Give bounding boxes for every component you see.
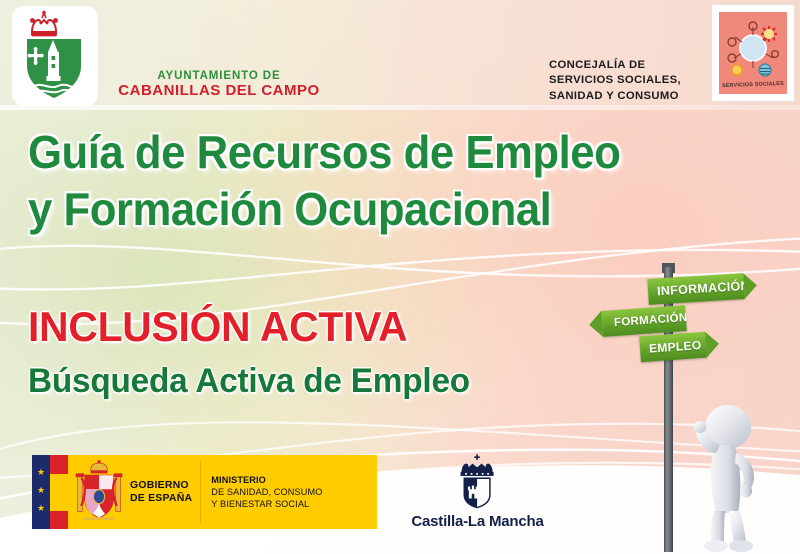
ministry-text: MINISTERIO DE SANIDAD, CONSUMO Y BIENEST… [201, 455, 377, 529]
gobierno-line2: DE ESPAÑA [130, 492, 192, 505]
spain-eu-flag-icon: ★ ★ ★ [32, 455, 68, 529]
gobierno-line1: GOBIERNO [130, 479, 192, 492]
ministry-line2: DE SANIDAD, CONSUMO [211, 486, 377, 498]
sign-formacion-label: FORMACIÓN [602, 312, 688, 330]
department-line2: SERVICIOS SOCIALES, [549, 73, 709, 88]
servicios-sociales-logo-icon: SERVICIOS SOCIALES [711, 4, 795, 102]
3d-person-thinking-icon [682, 403, 792, 554]
title-line-1: Guía de Recursos de Empleo [28, 124, 693, 181]
department-line1: CONCEJALÍA DE [549, 58, 709, 73]
sign-informacion: INFORMACIÓN [647, 273, 744, 305]
title-line-2: y Formación Ocupacional [28, 181, 693, 238]
castilla-la-mancha-logo: Castilla-La Mancha [400, 452, 555, 530]
sign-empleo-label: EMPLEO [640, 338, 702, 356]
gobierno-de-espana-logo: ★ ★ ★ [32, 455, 377, 529]
subtitle-subhead: Búsqueda Activa de Empleo [28, 362, 470, 401]
cabanillas-coat-of-arms-icon [12, 6, 98, 106]
page-title: Guía de Recursos de Empleo y Formación O… [28, 124, 693, 238]
ministry-line1: MINISTERIO [211, 474, 377, 486]
gobierno-text: GOBIERNO DE ESPAÑA [130, 455, 200, 529]
sign-formacion: FORMACIÓN [601, 305, 687, 337]
signpost-graphic: INFORMACIÓN FORMACIÓN EMPLEO [596, 255, 800, 554]
department-line3: SANIDAD Y CONSUMO [549, 89, 709, 104]
spain-coat-of-arms-icon [68, 455, 130, 529]
town-name-block: AYUNTAMIENTO DE CABANILLAS DEL CAMPO [104, 70, 334, 100]
sign-empleo: EMPLEO [639, 332, 707, 363]
subtitle-headline: INCLUSIÓN ACTIVA [28, 303, 407, 351]
town-line1: AYUNTAMIENTO DE [104, 70, 334, 83]
castilla-la-mancha-shield-icon [400, 452, 555, 510]
town-line2: CABANILLAS DEL CAMPO [104, 83, 334, 100]
department-block: CONCEJALÍA DE SERVICIOS SOCIALES, SANIDA… [549, 58, 709, 104]
castilla-la-mancha-name: Castilla-La Mancha [400, 513, 555, 530]
poster-canvas: AYUNTAMIENTO DE CABANILLAS DEL CAMPO CON… [0, 0, 800, 554]
sign-informacion-label: INFORMACIÓN [648, 279, 751, 299]
ministry-line3: Y BIENESTAR SOCIAL [211, 498, 377, 510]
